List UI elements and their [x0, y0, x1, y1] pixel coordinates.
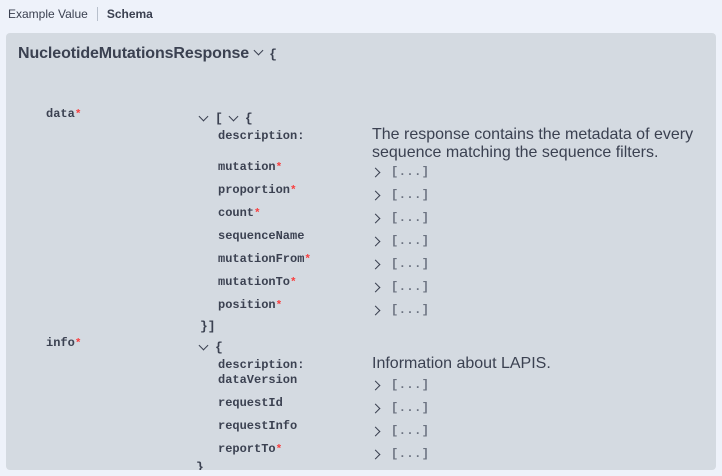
field-value-toggle-requestInfo[interactable]: [...]	[372, 424, 430, 438]
field-value-toggle-requestId[interactable]: [...]	[372, 401, 430, 415]
info-description-text: Information about LAPIS.	[372, 355, 712, 373]
schema-tabstrip: Example Value Schema	[0, 0, 722, 28]
field-value-toggle-position[interactable]: [...]	[372, 303, 430, 317]
chevron-right-icon[interactable]	[372, 403, 383, 414]
field-name-mutationTo: mutationTo*	[218, 272, 297, 290]
chevron-down-icon-array[interactable]	[199, 113, 210, 124]
data-array-opener[interactable]: [ {	[199, 111, 253, 126]
required-marker: *	[304, 254, 311, 266]
field-name-mutationFrom: mutationFrom*	[218, 249, 311, 267]
field-name-mutation: mutation*	[218, 157, 282, 175]
field-value-toggle-dataVersion[interactable]: [...]	[372, 378, 430, 392]
info-object-opener[interactable]: {	[199, 340, 223, 355]
model-open-brace: {	[269, 47, 277, 62]
field-name-requestInfo: requestInfo	[218, 416, 297, 434]
data-description-label: description:	[218, 126, 304, 144]
schema-panel: NucleotideMutationsResponse { data* [ { …	[6, 33, 716, 470]
data-description-text: The response contains the metadata of ev…	[372, 126, 712, 162]
required-marker: *	[254, 208, 261, 220]
field-name-requestId: requestId	[218, 393, 283, 411]
field-name-count: count*	[218, 203, 261, 221]
chevron-right-icon[interactable]	[372, 426, 383, 437]
field-name-reportTo: reportTo*	[218, 439, 282, 457]
required-marker: *	[75, 338, 82, 350]
chevron-right-icon[interactable]	[372, 190, 383, 201]
field-value-toggle-reportTo[interactable]: [...]	[372, 447, 430, 461]
chevron-right-icon[interactable]	[372, 305, 383, 316]
required-marker: *	[290, 277, 297, 289]
field-name-sequenceName: sequenceName	[218, 226, 304, 244]
property-name-info: info*	[46, 333, 81, 351]
field-name-dataVersion: dataVersion	[218, 370, 297, 388]
array-open-bracket: [	[215, 111, 223, 126]
field-value-toggle-proportion[interactable]: [...]	[372, 188, 430, 202]
info-object-close: }	[196, 458, 204, 470]
page-title: NucleotideMutationsResponse	[18, 45, 249, 63]
field-value-toggle-mutation[interactable]: [...]	[372, 165, 430, 179]
field-name-proportion: proportion*	[218, 180, 297, 198]
data-array-close: }]	[200, 317, 216, 335]
chevron-right-icon[interactable]	[372, 282, 383, 293]
info-open-brace: {	[215, 340, 223, 355]
field-value-toggle-mutationTo[interactable]: [...]	[372, 280, 430, 294]
chevron-down-icon-array-item[interactable]	[229, 113, 240, 124]
tab-example-value[interactable]: Example Value	[8, 7, 97, 21]
model-title-row[interactable]: NucleotideMutationsResponse {	[6, 45, 716, 69]
chevron-right-icon[interactable]	[372, 236, 383, 247]
field-value-toggle-sequenceName[interactable]: [...]	[372, 234, 430, 248]
chevron-down-icon-info[interactable]	[199, 342, 210, 353]
property-name-data: data*	[46, 104, 81, 122]
required-marker: *	[276, 162, 283, 174]
array-item-open-brace: {	[245, 111, 253, 126]
field-name-position: position*	[218, 295, 282, 313]
required-marker: *	[276, 300, 283, 312]
required-marker: *	[75, 109, 82, 121]
field-value-toggle-mutationFrom[interactable]: [...]	[372, 257, 430, 271]
chevron-right-icon[interactable]	[372, 380, 383, 391]
tab-schema[interactable]: Schema	[98, 7, 162, 21]
chevron-right-icon[interactable]	[372, 449, 383, 460]
chevron-right-icon[interactable]	[372, 167, 383, 178]
chevron-right-icon[interactable]	[372, 213, 383, 224]
chevron-down-icon-model[interactable]	[254, 47, 265, 58]
chevron-right-icon[interactable]	[372, 259, 383, 270]
required-marker: *	[290, 185, 297, 197]
field-value-toggle-count[interactable]: [...]	[372, 211, 430, 225]
required-marker: *	[276, 444, 283, 456]
